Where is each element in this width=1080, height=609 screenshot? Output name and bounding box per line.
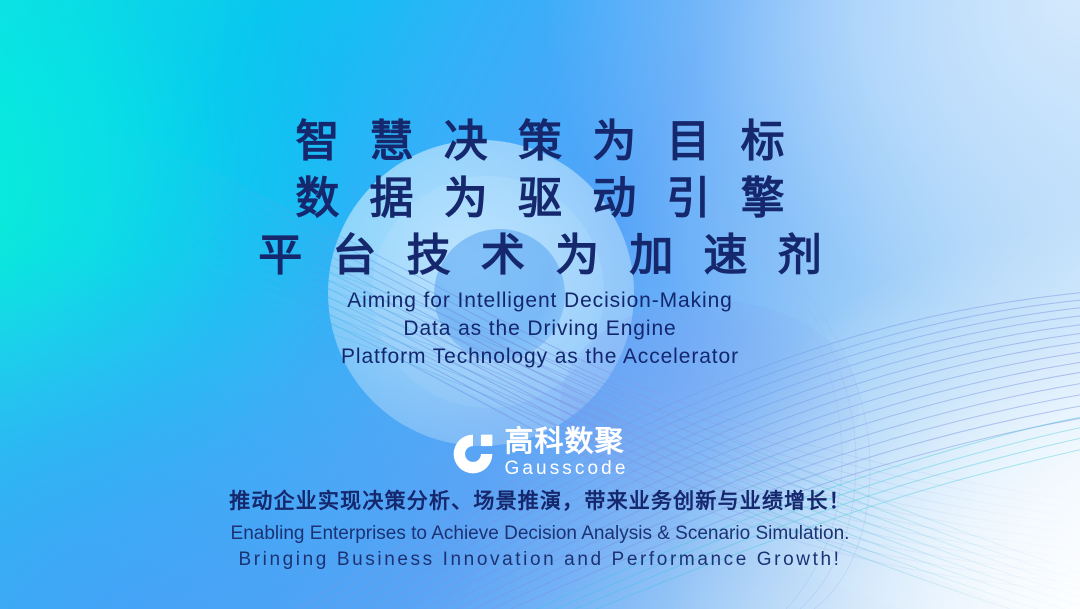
banner-content: 智 慧 决 策 为 目 标 数 据 为 驱 动 引 擎 平 台 技 术 为 加 … (0, 0, 1080, 609)
logo-wordmark: 高科数聚 Gausscode (504, 428, 628, 478)
tagline-english-line-2: Bringing Business Innovation and Perform… (0, 547, 1080, 573)
subheadline-line-2: Data as the Driving Engine (0, 315, 1080, 343)
subheadline-block: Aiming for Intelligent Decision-Making D… (0, 287, 1080, 371)
marketing-banner: 智 慧 决 策 为 目 标 数 据 为 驱 动 引 擎 平 台 技 术 为 加 … (0, 0, 1080, 609)
headline-block: 智 慧 决 策 为 目 标 数 据 为 驱 动 引 擎 平 台 技 术 为 加 … (0, 113, 1080, 284)
logo-name-cn: 高科数聚 (504, 428, 628, 457)
headline-line-1: 智 慧 决 策 为 目 标 (0, 113, 1080, 170)
gausscode-logo-mark-icon (451, 432, 495, 476)
headline-line-3: 平 台 技 术 为 加 速 剂 (0, 227, 1080, 284)
tagline-english-block: Enabling Enterprises to Achieve Decision… (0, 521, 1080, 573)
company-logo: 高科数聚 Gausscode (0, 428, 1080, 478)
headline-line-2: 数 据 为 驱 动 引 擎 (0, 170, 1080, 227)
tagline-chinese: 推动企业实现决策分析、场景推演，带来业务创新与业绩增长！ (0, 485, 1080, 515)
subheadline-line-3: Platform Technology as the Accelerator (0, 343, 1080, 371)
logo-name-en: Gausscode (504, 459, 628, 478)
subheadline-line-1: Aiming for Intelligent Decision-Making (0, 287, 1080, 315)
tagline-english-line-1: Enabling Enterprises to Achieve Decision… (0, 521, 1080, 547)
